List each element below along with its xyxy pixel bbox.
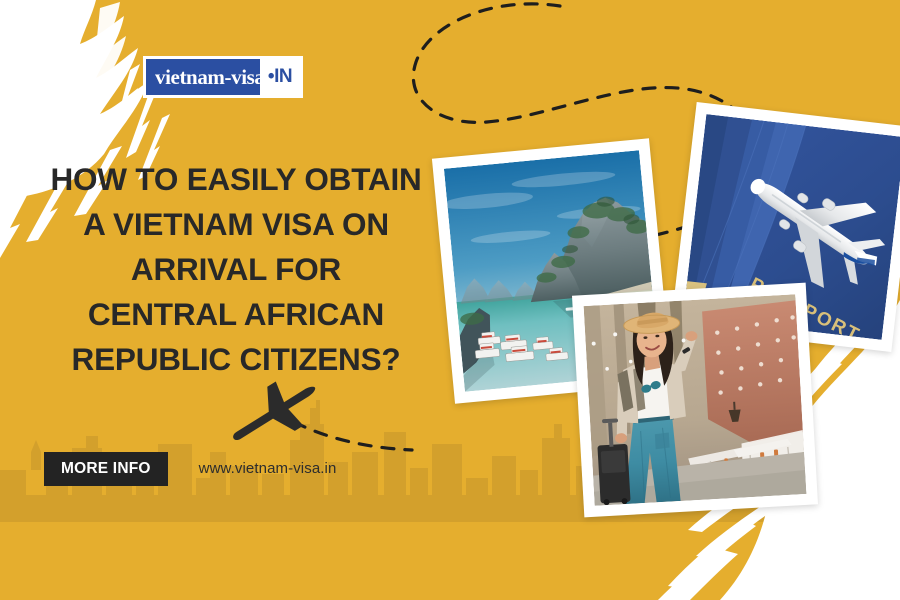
logo-wordmark: vietnam-visa bbox=[146, 65, 265, 90]
logo-blue-box: vietnam-visa •IN bbox=[146, 59, 300, 95]
headline-line-4: CENTRAL AFRICAN bbox=[20, 292, 452, 337]
visa-promo-banner: vietnam-visa •IN HOW TO EASILY OBTAIN A … bbox=[0, 0, 900, 600]
headline-line-1: HOW TO EASILY OBTAIN bbox=[20, 157, 452, 202]
headline-line-5: REPUBLIC CITIZENS? bbox=[20, 337, 452, 382]
more-info-button[interactable]: MORE INFO bbox=[44, 452, 168, 486]
photo-card-traveler[interactable] bbox=[572, 283, 818, 518]
site-logo[interactable]: vietnam-visa •IN bbox=[143, 56, 303, 98]
headline-line-3: ARRIVAL FOR bbox=[20, 247, 452, 292]
logo-tld-box: •IN bbox=[260, 59, 300, 95]
logo-tld-text: •IN bbox=[268, 66, 292, 88]
photo-traveler-image bbox=[584, 294, 807, 506]
headline-line-2: A VIETNAM VISA ON bbox=[20, 202, 452, 247]
cta-row: MORE INFO www.vietnam-visa.in bbox=[44, 452, 336, 486]
website-url-text: www.vietnam-visa.in bbox=[199, 460, 337, 477]
page-title: HOW TO EASILY OBTAIN A VIETNAM VISA ON A… bbox=[20, 157, 452, 382]
